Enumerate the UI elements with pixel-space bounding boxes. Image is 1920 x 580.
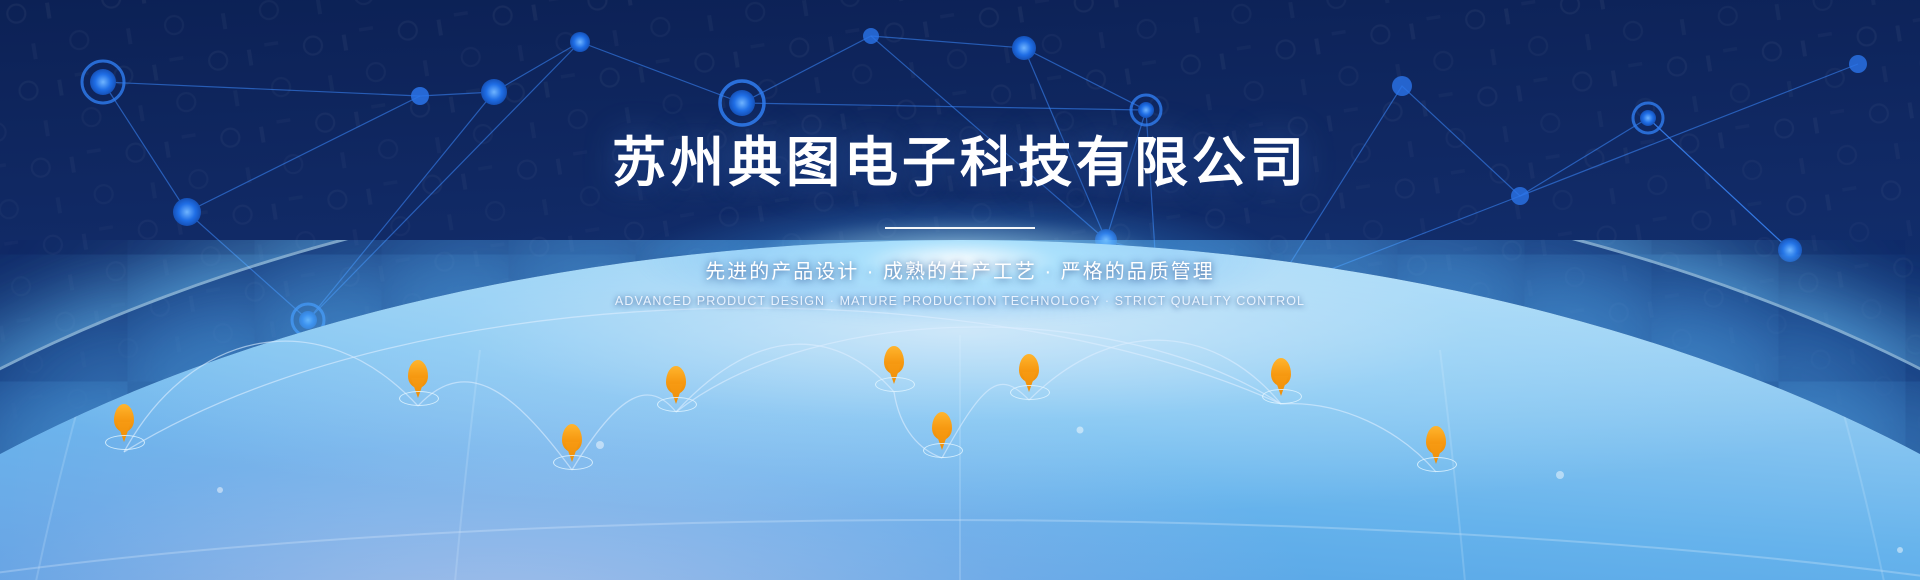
map-pin-marker	[665, 366, 687, 410]
map-pin-marker	[561, 424, 583, 468]
map-pin-marker	[1270, 358, 1292, 402]
company-title: 苏州典图电子科技有限公司	[0, 0, 1920, 193]
subtitle-english: ADVANCED PRODUCT DESIGN · MATURE PRODUCT…	[0, 294, 1920, 308]
map-pin-marker	[931, 412, 953, 456]
subtitle-chinese: 先进的产品设计 · 成熟的生产工艺 · 严格的品质管理	[0, 255, 1920, 284]
map-pin-marker	[1425, 426, 1447, 470]
map-pin-marker	[113, 404, 135, 448]
map-pin-marker	[1018, 354, 1040, 398]
banner-text-block: 苏州典图电子科技有限公司 先进的产品设计 · 成熟的生产工艺 · 严格的品质管理…	[0, 0, 1920, 308]
title-divider	[885, 227, 1035, 229]
map-pin-marker	[883, 346, 905, 390]
map-pin-marker	[407, 360, 429, 404]
hero-banner: 苏州典图电子科技有限公司 先进的产品设计 · 成熟的生产工艺 · 严格的品质管理…	[0, 0, 1920, 580]
